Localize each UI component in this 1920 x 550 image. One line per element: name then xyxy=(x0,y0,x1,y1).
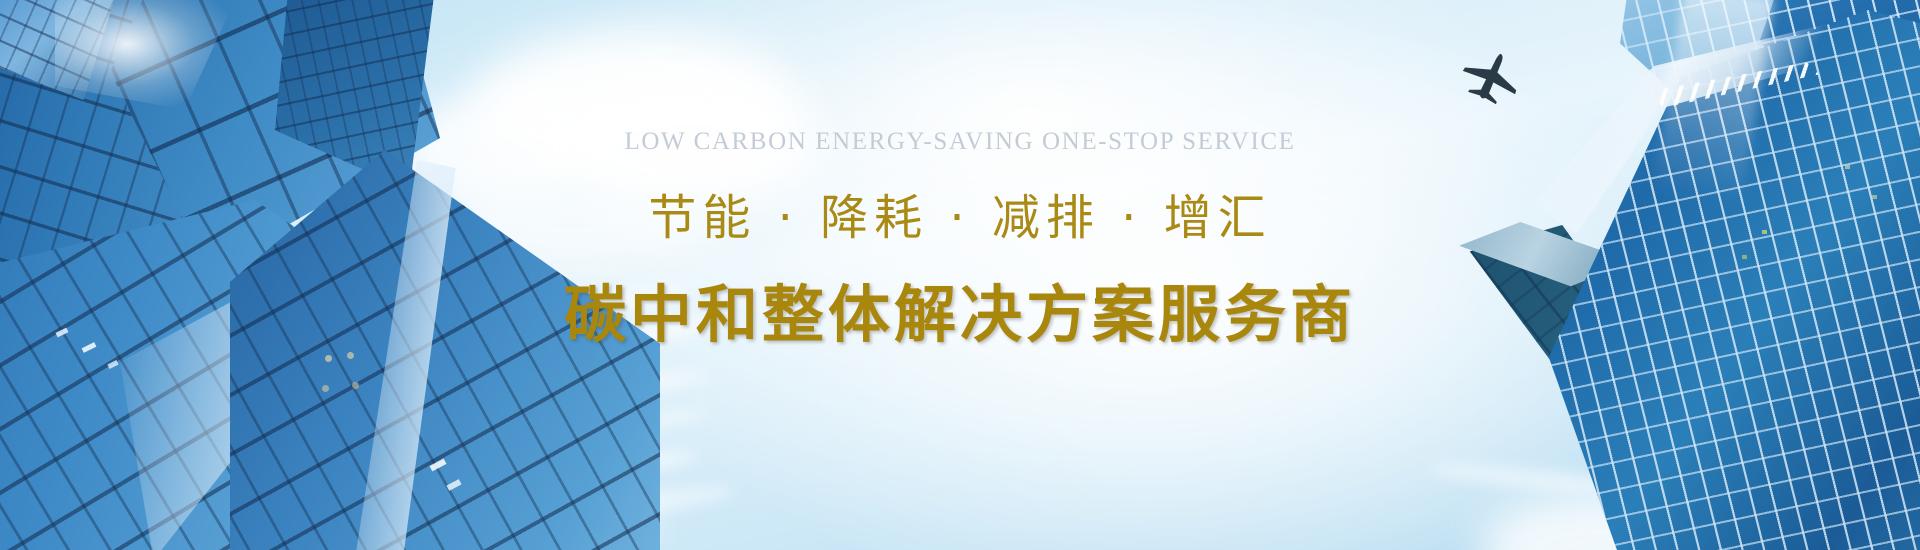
banner-text-block: LOW CARBON ENERGY-SAVING ONE-STOP SERVIC… xyxy=(0,0,1920,550)
banner-headline-text: 碳中和整体解决方案服务商 xyxy=(564,264,1356,354)
banner-tagline-text: 节能 · 降耗 · 减排 · 增汇 xyxy=(648,178,1271,248)
banner-eyebrow-text: LOW CARBON ENERGY-SAVING ONE-STOP SERVIC… xyxy=(624,128,1295,156)
hero-banner: LOW CARBON ENERGY-SAVING ONE-STOP SERVIC… xyxy=(0,0,1920,550)
